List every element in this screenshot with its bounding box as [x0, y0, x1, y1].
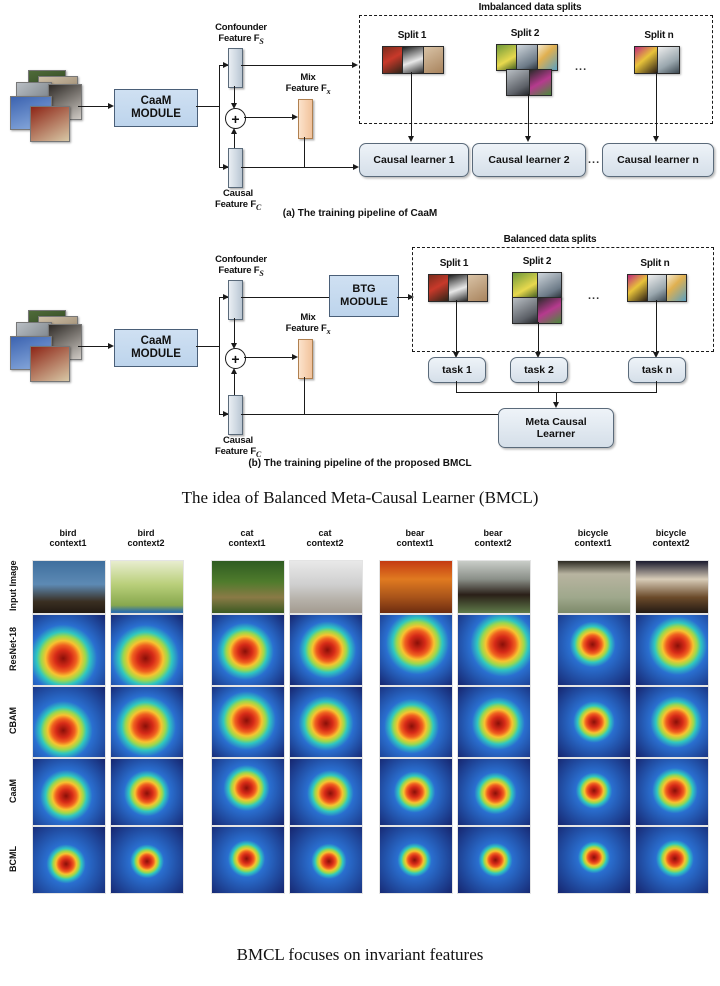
grid-cell-caam-cat-context2 [289, 758, 363, 826]
mix-feature-label-a: Mix Feature Fx [260, 72, 356, 97]
split-n-thumb-2 [658, 47, 680, 73]
mix-b-label-line2: Feature F [286, 323, 327, 334]
split-n-thumbnails-a [634, 46, 680, 74]
causal-b-label-line1: Causal [223, 435, 253, 446]
column-context-label: context1 [574, 538, 611, 548]
bottom-caption: BMCL focuses on invariant features [0, 945, 720, 965]
split-1-thumbnails-a [382, 46, 444, 74]
confounder-feature-bar-b [228, 280, 243, 320]
confounder-feature-label-a: Confounder Feature FS [186, 22, 296, 47]
split-n-label-a: Split n [624, 30, 694, 41]
split-n-thumbnails-b [627, 274, 687, 302]
column-context-label: context1 [396, 538, 433, 548]
grid-cell-caam-cat-context1 [211, 758, 285, 826]
grid-cell-resnet-18-bear-context1 [379, 614, 453, 686]
grid-cell-input-image-bird-context2 [110, 560, 184, 614]
column-class-label: cat [318, 528, 331, 538]
causal-to-plus-line-b [234, 371, 235, 395]
caam-module-line2: MODULE [131, 108, 181, 120]
split-1-to-task-line-b [456, 300, 457, 354]
caam-module-b-line2: MODULE [131, 348, 181, 360]
btg-module-line2: MODULE [340, 296, 388, 308]
split-1-thumbnails-b [428, 274, 488, 302]
arrowhead-splitn-learner-a [653, 136, 659, 142]
split-2b-thumb-4 [538, 298, 562, 323]
mix-feature-label-b: Mix Feature Fx [260, 312, 356, 337]
grid-cell-cbam-bird-context2 [110, 686, 184, 758]
split-2-to-task-line-b [538, 322, 539, 354]
confounder-to-splits-line-a [241, 65, 355, 66]
confounder-b-label-line2: Feature F [218, 265, 259, 276]
split-1-to-learner-line-a [411, 72, 412, 138]
grid-row-label-caam: CaaM [6, 758, 20, 824]
learners-ellipsis-a: ... [588, 154, 600, 166]
arrowhead-splits-a [352, 62, 358, 68]
grid-column-header-bear-context2: bearcontext2 [447, 528, 539, 548]
split-1-label-a: Split 1 [377, 30, 447, 41]
split-1-thumb-2 [403, 47, 422, 73]
grid-cell-bcml-bicycle-context1 [557, 826, 631, 894]
splits-ellipsis-a: ... [575, 61, 587, 73]
mix-down-line-b [304, 377, 305, 414]
column-context-label: context2 [652, 538, 689, 548]
grid-column-header-bird-context2: birdcontext2 [100, 528, 192, 548]
meta-causal-learner-box[interactable]: Meta Causal Learner [498, 408, 614, 448]
split-2-thumb-3 [538, 45, 557, 70]
confounder-label-line2: Feature F [218, 33, 259, 44]
caam-output-line-a [196, 106, 220, 107]
split-2b-thumb-1 [513, 273, 537, 298]
grid-cell-resnet-18-bicycle-context1 [557, 614, 631, 686]
grid-cell-resnet-18-cat-context1 [211, 614, 285, 686]
grid-cell-cbam-bear-context1 [379, 686, 453, 758]
split-2-thumb-2 [517, 45, 536, 70]
meta-causal-line2: Learner [537, 428, 576, 440]
split-2-label-a: Split 2 [490, 28, 560, 39]
split-1b-thumb-1 [429, 275, 448, 301]
causal-learner-n-label: Causal learner n [617, 154, 699, 166]
sum-to-mix-line-b [244, 357, 294, 358]
grid-cell-cbam-bicycle-context1 [557, 686, 631, 758]
mix-b-label-sub: x [327, 327, 331, 336]
grid-cell-cbam-bird-context1 [32, 686, 106, 758]
caam-split-bus-b [219, 297, 220, 415]
confounder-to-btg-line-b [241, 297, 329, 298]
arrowhead-plus-bottom-b [231, 368, 237, 374]
input-image-stack-b [8, 310, 78, 382]
confounder-label-sub: S [259, 37, 263, 46]
grid-cell-caam-bear-context2 [457, 758, 531, 826]
grid-cell-input-image-bicycle-context1 [557, 560, 631, 614]
grid-cell-resnet-18-bird-context2 [110, 614, 184, 686]
grid-cell-bcml-bird-context1 [32, 826, 106, 894]
causal-to-learner-line-a [241, 167, 356, 168]
caam-module-line1: CaaM [141, 95, 172, 107]
grid-cell-input-image-bicycle-context2 [635, 560, 709, 614]
grid-cell-bcml-bear-context1 [379, 826, 453, 894]
split-2-thumbnails-row1-a [496, 44, 558, 71]
mix-feature-bar-b [298, 339, 313, 379]
attention-visualization-grid: birdcontext1birdcontext2catcontext1catco… [0, 528, 720, 918]
caam-module-box-a[interactable]: CaaM MODULE [114, 89, 198, 127]
task-2-label: task 2 [524, 364, 554, 376]
btg-module-line1: BTG [352, 283, 375, 295]
confounder-b-label-line1: Confounder [215, 254, 267, 265]
split-nb-thumb-1 [628, 275, 647, 301]
panel-b-training-pipeline-bmcl: CaaM MODULE Confounder Feature FS BTG MO… [0, 232, 720, 474]
causal-learner-1-box[interactable]: Causal learner 1 [359, 143, 469, 177]
grid-cell-cbam-cat-context1 [211, 686, 285, 758]
split-2-thumb-1 [497, 45, 516, 70]
grid-cell-bcml-bear-context2 [457, 826, 531, 894]
split-1b-thumb-3 [468, 275, 487, 301]
task-2-box[interactable]: task 2 [510, 357, 568, 383]
grid-cell-bcml-bird-context2 [110, 826, 184, 894]
meta-causal-line1: Meta Causal [525, 416, 586, 428]
mix-label-line2: Feature F [286, 83, 327, 94]
causal-learner-2-box[interactable]: Causal learner 2 [472, 143, 586, 177]
grid-cell-cbam-bear-context2 [457, 686, 531, 758]
split-2-to-learner-line-a [528, 94, 529, 138]
column-class-label: bicycle [578, 528, 609, 538]
sum-symbol-a: + [231, 112, 239, 126]
column-context-label: context2 [474, 538, 511, 548]
arrow-stack-to-caam-b [78, 346, 108, 347]
grid-cell-input-image-cat-context1 [211, 560, 285, 614]
caam-module-b-line1: CaaM [141, 335, 172, 347]
split-2b-thumb-3 [513, 298, 537, 323]
imbalanced-splits-title: Imbalanced data splits [420, 2, 640, 13]
causal-learner-1-label: Causal learner 1 [373, 154, 454, 166]
grid-cell-caam-bicycle-context2 [635, 758, 709, 826]
split-2-thumbnails-row2-a [506, 69, 552, 96]
balanced-splits-title: Balanced data splits [440, 234, 660, 245]
split-1-thumb-1 [383, 47, 402, 73]
mix-feature-bar-a [298, 99, 313, 139]
split-n-label-b: Split n [620, 258, 690, 269]
grid-cell-caam-bicycle-context1 [557, 758, 631, 826]
input-image-stack-a [8, 70, 78, 142]
grid-cell-cbam-cat-context2 [289, 686, 363, 758]
panel-a-caption: (a) The training pipeline of CaaM [0, 208, 720, 219]
sum-to-mix-line-a [244, 117, 294, 118]
mix-down-line-a [304, 137, 305, 167]
arrowhead-plus-bottom-a [231, 128, 237, 134]
causal-learner-n-box[interactable]: Causal learner n [602, 143, 714, 177]
grid-row-label-bcml: BCML [6, 826, 20, 892]
split-2-thumb-4 [507, 70, 529, 95]
column-class-label: bear [483, 528, 502, 538]
caam-split-bus-a [219, 65, 220, 168]
column-context-label: context1 [49, 538, 86, 548]
sum-node-b: + [225, 348, 246, 369]
task-n-label: task n [642, 364, 672, 376]
panel-b-caption: (b) The training pipeline of the propose… [0, 458, 720, 469]
split-2-thumbnails-row1-b [512, 272, 562, 299]
confounder-feature-bar-a [228, 48, 243, 88]
arrowhead-split1-learner-a [408, 136, 414, 142]
task-1-label: task 1 [442, 364, 472, 376]
grid-row-label-input-image: Input Image [6, 560, 20, 612]
grid-cell-caam-bird-context1 [32, 758, 106, 826]
split-1-label-b: Split 1 [419, 258, 489, 269]
split-2-thumbnails-row2-b [512, 297, 562, 324]
column-class-label: bird [138, 528, 155, 538]
grid-cell-input-image-bear-context1 [379, 560, 453, 614]
split-2b-thumb-2 [538, 273, 562, 298]
grid-row-label-resnet-18: ResNet-18 [6, 614, 20, 684]
causal-learner-2-label: Causal learner 2 [488, 154, 569, 166]
causal-feature-label-b: Causal Feature FC [183, 435, 293, 460]
column-context-label: context2 [306, 538, 343, 548]
caam-module-box-b[interactable]: CaaM MODULE [114, 329, 198, 367]
grid-cell-input-image-cat-context2 [289, 560, 363, 614]
btg-module-box[interactable]: BTG MODULE [329, 275, 399, 317]
confounder-b-label-sub: S [259, 269, 263, 278]
confounder-to-plus-line-b [234, 318, 235, 344]
split-nb-thumb-3 [667, 275, 686, 301]
column-class-label: bird [60, 528, 77, 538]
grid-cell-input-image-bear-context2 [457, 560, 531, 614]
task-n-box[interactable]: task n [628, 357, 686, 383]
column-class-label: bear [405, 528, 424, 538]
causal-b-label-line2: Feature F [215, 446, 256, 457]
grid-cell-bcml-bicycle-context2 [635, 826, 709, 894]
grid-cell-caam-bear-context1 [379, 758, 453, 826]
arrow-stack-to-caam-a [78, 106, 108, 107]
grid-cell-caam-bird-context2 [110, 758, 184, 826]
grid-cell-resnet-18-bear-context2 [457, 614, 531, 686]
grid-cell-resnet-18-bicycle-context2 [635, 614, 709, 686]
mix-label-line1: Mix [300, 72, 315, 83]
grid-cell-cbam-bicycle-context2 [635, 686, 709, 758]
grid-cell-resnet-18-bird-context1 [32, 614, 106, 686]
sum-symbol-b: + [231, 352, 239, 366]
causal-label-line1: Causal [223, 188, 253, 199]
split-n-to-task-line-b [656, 300, 657, 354]
middle-caption: The idea of Balanced Meta-Causal Learner… [0, 488, 720, 508]
grid-column-header-bicycle-context2: bicyclecontext2 [625, 528, 717, 548]
splits-ellipsis-b: ... [588, 290, 600, 302]
confounder-to-plus-line-a [234, 86, 235, 104]
split-2-label-b: Split 2 [502, 256, 572, 267]
causal-to-meta-line-b [241, 414, 541, 415]
mix-b-label-line1: Mix [300, 312, 315, 323]
grid-row-label-cbam: CBAM [6, 686, 20, 756]
panel-a-training-pipeline-caam: CaaM MODULE Confounder Feature FS + Caus… [0, 0, 720, 226]
grid-column-header-cat-context2: catcontext2 [279, 528, 371, 548]
grid-cell-bcml-cat-context1 [211, 826, 285, 894]
task-1-box[interactable]: task 1 [428, 357, 486, 383]
split-n-thumb-1 [635, 47, 657, 73]
column-context-label: context2 [127, 538, 164, 548]
split-2-thumb-5 [530, 70, 552, 95]
grid-cell-resnet-18-cat-context2 [289, 614, 363, 686]
confounder-label-line1: Confounder [215, 22, 267, 33]
split-nb-thumb-2 [648, 275, 667, 301]
column-class-label: bicycle [656, 528, 687, 538]
grid-cell-input-image-bird-context1 [32, 560, 106, 614]
column-class-label: cat [240, 528, 253, 538]
arrowhead-split2-learner-a [525, 136, 531, 142]
caam-output-line-b [196, 346, 220, 347]
column-context-label: context1 [228, 538, 265, 548]
mix-label-sub: x [327, 87, 331, 96]
split-1b-thumb-2 [449, 275, 468, 301]
confounder-feature-label-b: Confounder Feature FS [186, 254, 296, 279]
grid-cell-bcml-cat-context2 [289, 826, 363, 894]
sum-node-a: + [225, 108, 246, 129]
split-n-to-learner-line-a [656, 72, 657, 138]
split-1-thumb-3 [424, 47, 443, 73]
